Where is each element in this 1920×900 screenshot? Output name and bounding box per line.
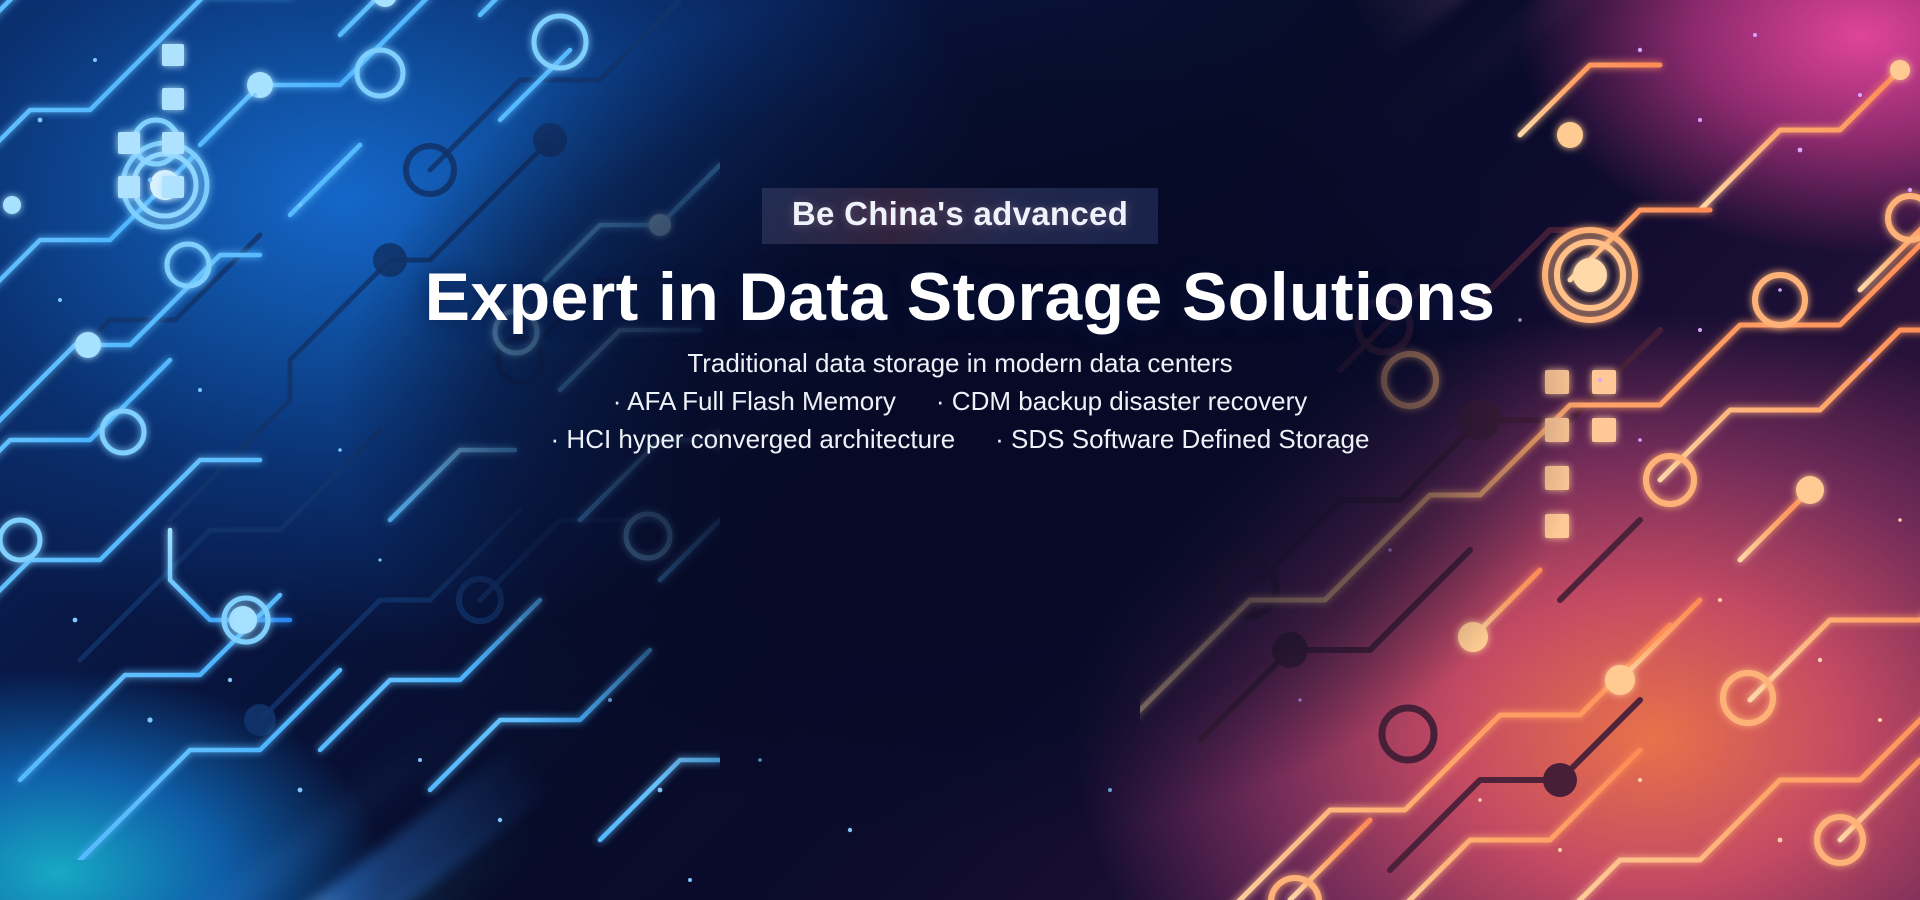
- cyan-streak-outer: [0, 687, 503, 900]
- feature-item-hci: · HCI hyper converged architecture: [551, 426, 956, 452]
- hero-banner: Be China's advanced Expert in Data Stora…: [0, 0, 1920, 900]
- eyebrow-container: Be China's advanced: [0, 188, 1920, 244]
- feature-row-2: · HCI hyper converged architecture · SDS…: [0, 426, 1920, 452]
- hero-subtitle: Traditional data storage in modern data …: [0, 350, 1920, 376]
- feature-item-cdm: · CDM backup disaster recovery: [936, 388, 1307, 414]
- feature-item-afa: · AFA Full Flash Memory: [613, 388, 896, 414]
- cyan-streak-mid: [0, 806, 546, 900]
- feature-row-1: · AFA Full Flash Memory · CDM backup dis…: [0, 388, 1920, 414]
- page-title: Expert in Data Storage Solutions: [0, 260, 1920, 335]
- cyan-streak-core: [0, 739, 557, 900]
- feature-item-sds: · SDS Software Defined Storage: [995, 426, 1369, 452]
- hero-content: Be China's advanced Expert in Data Stora…: [0, 0, 1920, 452]
- hero-eyebrow: Be China's advanced: [762, 188, 1158, 244]
